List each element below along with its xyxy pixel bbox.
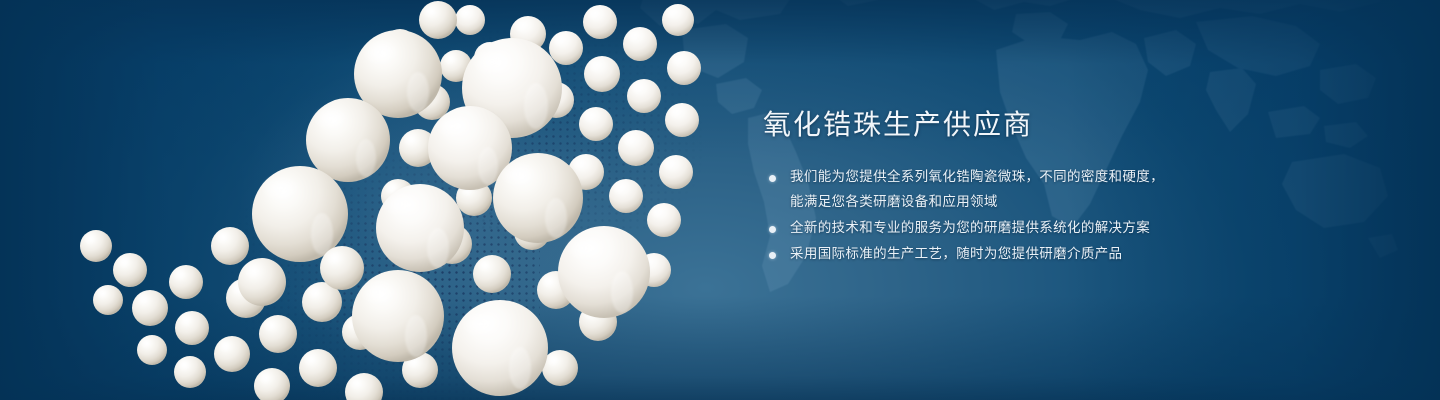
list-item: 全新的技术和专业的服务为您的研磨提供系统化的解决方案 (763, 216, 1283, 241)
hero-banner: 氧化锆珠生产供应商 我们能为您提供全系列氧化锆陶瓷微珠，不同的密度和硬度， 能满… (0, 0, 1440, 400)
list-item: 我们能为您提供全系列氧化锆陶瓷微珠，不同的密度和硬度， 能满足您各类研磨设备和应… (763, 165, 1283, 215)
bullet-line: 能满足您各类研磨设备和应用领域 (790, 190, 1283, 215)
bullet-dot-icon (769, 252, 776, 259)
bullet-dot-icon (769, 175, 776, 182)
bullet-line: 我们能为您提供全系列氧化锆陶瓷微珠，不同的密度和硬度， (790, 165, 1283, 190)
bullet-line: 全新的技术和专业的服务为您的研磨提供系统化的解决方案 (790, 216, 1283, 241)
list-item: 采用国际标准的生产工艺，随时为您提供研磨介质产品 (763, 242, 1283, 267)
banner-copy: 氧化锆珠生产供应商 我们能为您提供全系列氧化锆陶瓷微珠，不同的密度和硬度， 能满… (763, 108, 1283, 267)
banner-headline: 氧化锆珠生产供应商 (763, 108, 1283, 142)
bullet-dot-icon (769, 226, 776, 233)
bullet-line: 采用国际标准的生产工艺，随时为您提供研磨介质产品 (790, 242, 1283, 267)
banner-bullet-list: 我们能为您提供全系列氧化锆陶瓷微珠，不同的密度和硬度， 能满足您各类研磨设备和应… (763, 165, 1283, 267)
